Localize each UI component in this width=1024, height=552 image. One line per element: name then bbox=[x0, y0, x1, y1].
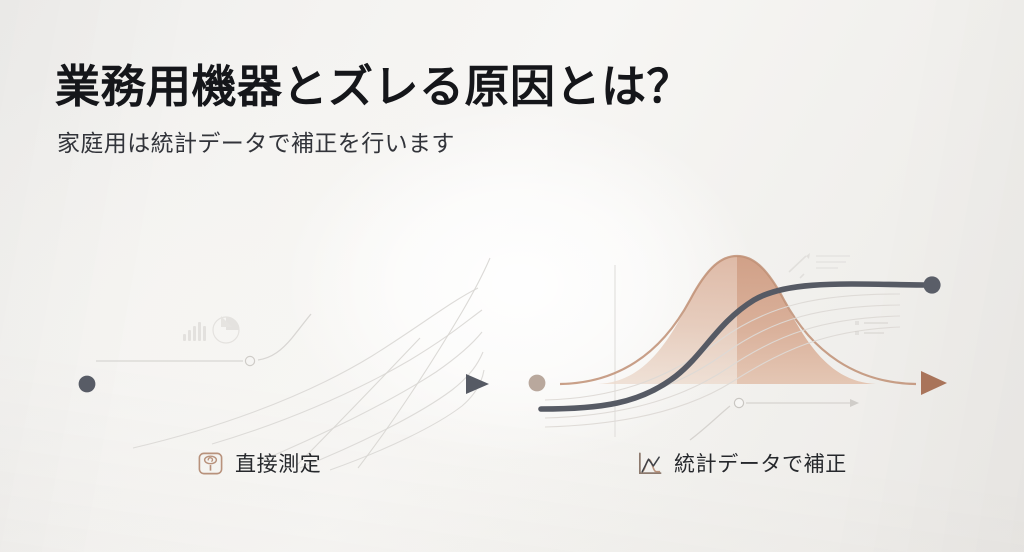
ghost-slider-left bbox=[96, 314, 311, 366]
ghost-marker-line-right bbox=[690, 398, 859, 440]
direct-measurement-arrow bbox=[79, 374, 489, 394]
ghost-rising-strokes-left bbox=[296, 258, 490, 468]
ghost-fan-curves-right bbox=[545, 294, 900, 427]
ghost-fan-curves-left bbox=[133, 288, 484, 470]
caption-label-statistical-correction: 統計データで補正 bbox=[674, 448, 847, 478]
slide-canvas: 業務用機器とズレる原因とは？ 家庭用は統計データで補正を行います bbox=[0, 0, 1024, 552]
caption-direct-measurement: 直接測定 bbox=[197, 448, 321, 478]
header-block: 業務用機器とズレる原因とは？ 家庭用は統計データで補正を行います bbox=[55, 62, 775, 158]
bullet-list-glyph bbox=[855, 321, 888, 335]
cumulative-s-curve bbox=[541, 276, 941, 409]
pencil-note-glyph bbox=[789, 253, 850, 278]
bell-curve-outline bbox=[560, 256, 916, 384]
pie-chart-glyph bbox=[213, 316, 239, 343]
caption-label-direct-measurement: 直接測定 bbox=[235, 448, 321, 478]
bell-curve-fill-right bbox=[598, 256, 876, 384]
s-curve-endpoint-dot bbox=[923, 276, 940, 293]
bar-chart-glyph bbox=[183, 322, 206, 341]
bell-curve-fill-left bbox=[598, 256, 876, 384]
chart-direct-measurement bbox=[79, 258, 490, 470]
caption-statistical-correction: 統計データで補正 bbox=[636, 448, 847, 478]
page-title: 業務用機器とズレる原因とは？ bbox=[55, 62, 775, 112]
chart-statistical-correction bbox=[529, 253, 947, 440]
weighing-scale-icon bbox=[197, 450, 224, 477]
statistical-baseline-arrow bbox=[529, 371, 947, 395]
page-subtitle: 家庭用は統計データで補正を行います bbox=[57, 130, 775, 158]
statistics-curve-icon bbox=[636, 450, 663, 477]
